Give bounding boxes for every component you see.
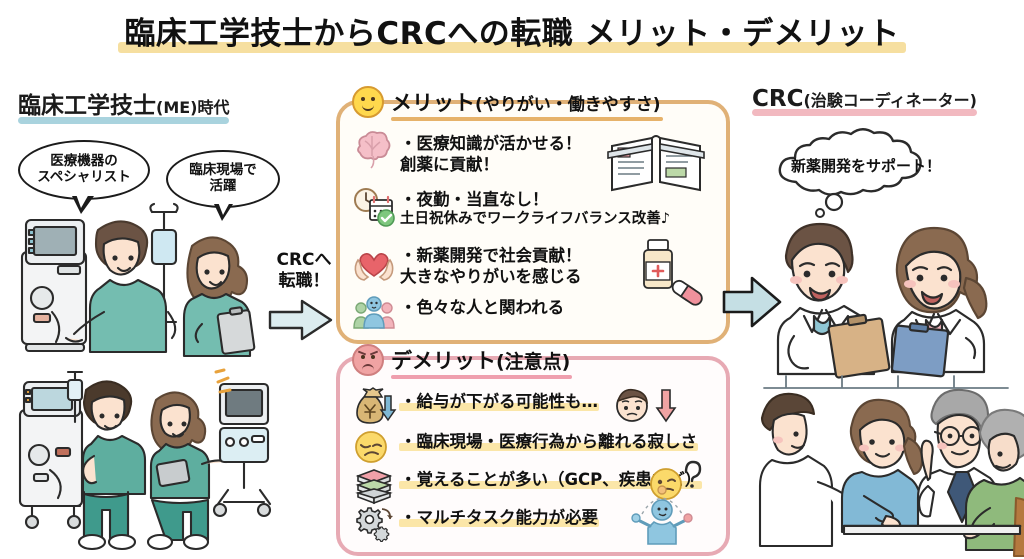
right-header-suffix: (治験コーディネーター) [803, 91, 977, 110]
brain-icon [352, 130, 392, 170]
left-section-header: 臨床工学技士(ME)時代 [18, 86, 229, 120]
merit-item-2: ・夜勤・当直なし！ 土日祝休みでワークライフバランス改善♪ [352, 186, 670, 229]
thought-cloud: 新薬開発をサポート！ [768, 140, 964, 202]
crc-illustration-top [770, 212, 1020, 372]
merit-item-4: ・色々な人と関われる [352, 294, 564, 334]
merit-title-underline [391, 117, 663, 121]
hands-heart-icon [352, 242, 392, 282]
demerit-title-main: デメリット [391, 349, 496, 373]
bubble1-line2: スペシャリスト [37, 170, 131, 186]
merit-item-3-line-1: ・新薬開発で社会貢献！ [400, 245, 582, 266]
page-title: 臨床工学技士からCRCへの転職 メリット・デメリット [0, 8, 1024, 57]
merit-item-4-line-1: ・色々な人と関われる [400, 297, 564, 318]
left-header-suffix: (ME)時代 [156, 98, 229, 117]
money-bag-down-icon [352, 388, 392, 428]
right-arrow-icon-2 [722, 274, 782, 330]
merit-item-1: ・医療知識が活かせる！ 創薬に貢献！ [352, 130, 582, 176]
right-arrow-icon [268, 298, 334, 342]
merit-item-3-line-2: 大きなやりがいを感じる [400, 266, 582, 287]
worried-person-down-icon [614, 388, 682, 424]
medicine-bottle-icon [632, 236, 702, 302]
demerit-item-4-line-1: ・マルチタスク能力が必要 [400, 507, 598, 528]
right-section-header: CRC(治験コーディネーター) [752, 86, 977, 112]
smiling-face-icon [352, 86, 384, 118]
demerit-title: デメリット(注意点) [352, 344, 570, 376]
gears-icon [352, 504, 392, 544]
clock-calendar-check-icon [352, 186, 392, 226]
demerit-item-4: ・マルチタスク能力が必要 [352, 504, 598, 544]
bubble2-line1: 臨床現場で [189, 163, 257, 179]
transition-label-line1: CRCへ [258, 250, 350, 271]
transition-label-line2: 転職！ [258, 271, 350, 292]
demerit-item-2-line-1: ・臨床現場・医療行為から離れる寂しさ [400, 431, 697, 452]
crc-illustration-bottom [752, 376, 1020, 556]
tired-face-icon [352, 428, 392, 468]
left-header-main: 臨床工学技士 [18, 93, 156, 119]
me-illustration-top [6, 200, 256, 375]
speech-bubble-clinical: 臨床現場で 活躍 [166, 150, 280, 208]
people-group-icon [352, 294, 392, 334]
bubble-tail-icon [214, 204, 233, 221]
merit-item-1-line-1: ・医療知識が活かせる！ [400, 133, 582, 154]
demerit-item-1-line-1: ・給与が下がる可能性も… [400, 391, 598, 412]
right-header-main: CRC [752, 86, 803, 112]
sad-face-icon [352, 344, 384, 376]
bubble1-line1: 医療機器の [37, 154, 131, 170]
demerit-item-1: ・給与が下がる可能性も… [352, 388, 598, 428]
title-text: 臨床工学技士からCRCへの転職 メリット・デメリット [124, 8, 899, 53]
speech-bubble-specialist: 医療機器の スペシャリスト [18, 140, 150, 200]
infographic-canvas: 臨床工学技士からCRCへの転職 メリット・デメリット 臨床工学技士(ME)時代 … [0, 0, 1024, 559]
juggling-person-icon [628, 486, 698, 546]
merit-title: メリット(やりがい・働きやすさ) [352, 86, 661, 118]
me-illustration-bottom [6, 370, 268, 552]
bubble2-line2: 活躍 [189, 179, 257, 195]
merit-title-main: メリット [391, 91, 475, 115]
transition-label: CRCへ 転職！ [258, 250, 350, 291]
merit-item-3: ・新薬開発で社会貢献！ 大きなやりがいを感じる [352, 242, 582, 288]
merit-item-1-line-2: 創薬に貢献！ [400, 154, 499, 175]
thought-cloud-text: 新薬開発をサポート！ [768, 134, 964, 196]
bubble-tail-icon [72, 196, 94, 214]
merit-item-2-line-1: ・夜勤・当直なし！ [400, 189, 549, 210]
demerit-title-underline [391, 375, 572, 379]
merit-title-sub: (やりがい・働きやすさ) [475, 95, 661, 115]
merit-item-2-line-2: 土日祝休みでワークライフバランス改善♪ [400, 210, 670, 229]
book-stack-icon [352, 466, 392, 506]
open-book-icon [608, 132, 704, 194]
demerit-title-sub: (注意点) [496, 351, 570, 373]
